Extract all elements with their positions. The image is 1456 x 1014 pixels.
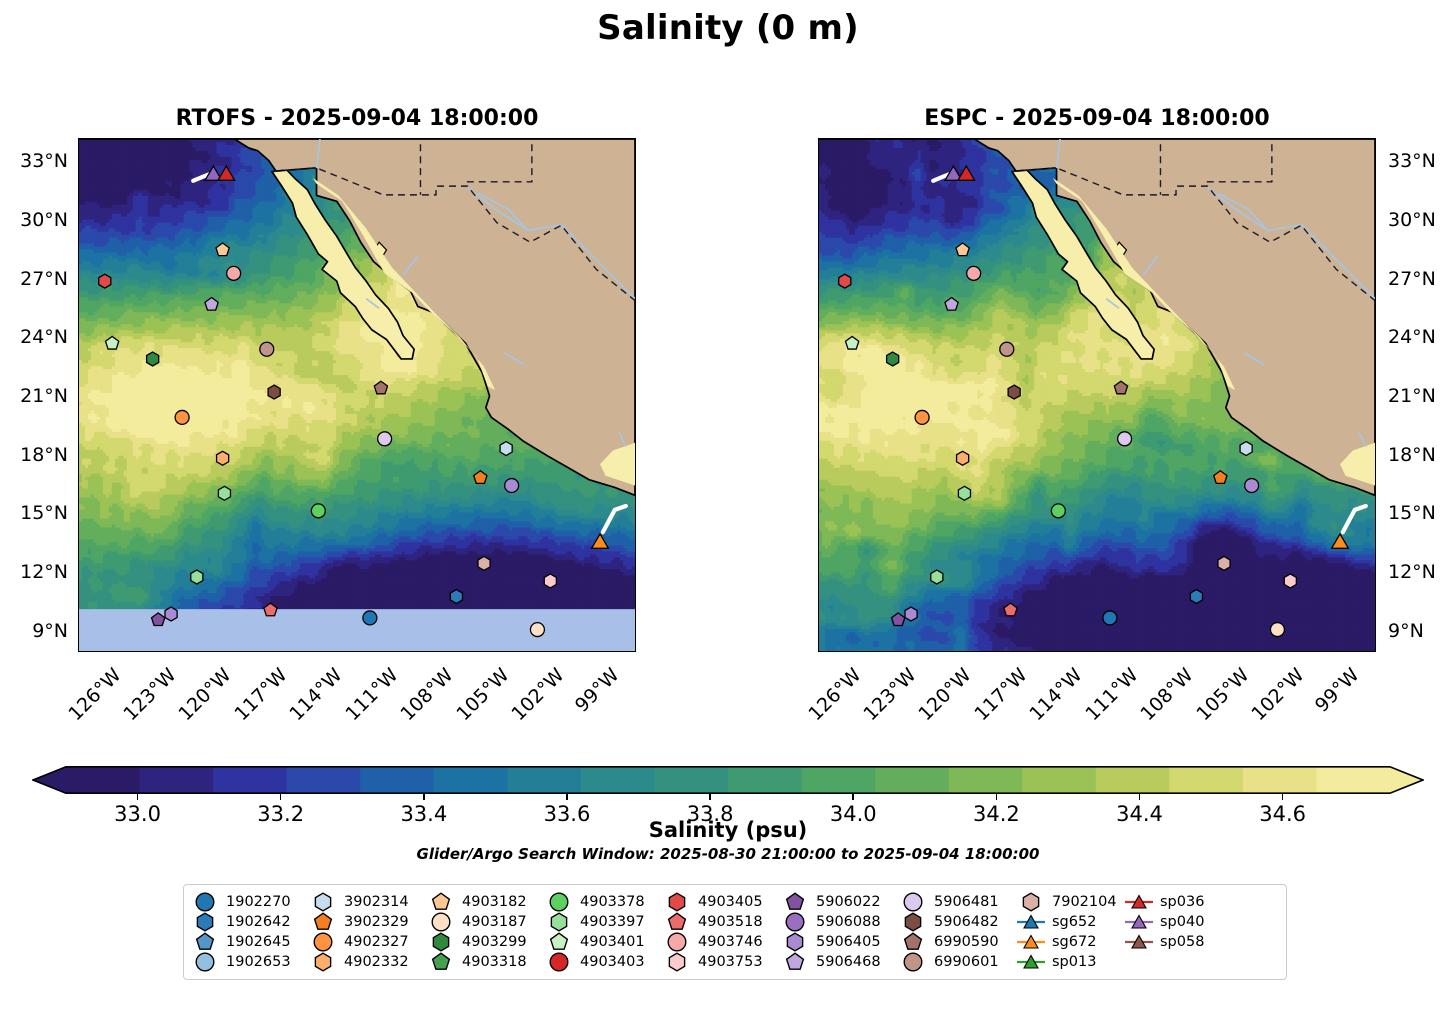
- legend-item-4903401[interactable]: 4903401: [544, 932, 662, 952]
- legend-item-sp058[interactable]: sp058: [1124, 932, 1224, 952]
- legend-item-1902642[interactable]: 1902642: [190, 912, 308, 932]
- legend-item-sg672[interactable]: sg672: [1016, 932, 1124, 952]
- pentagon-marker-icon: [190, 933, 220, 951]
- y-axis-label: 33°N: [1388, 150, 1456, 172]
- legend-item-6990601[interactable]: 6990601: [898, 952, 1016, 972]
- legend-item-5906481[interactable]: 5906481: [898, 892, 1016, 912]
- legend-item-sp040[interactable]: sp040: [1124, 912, 1224, 932]
- legend-item-label: 4903182: [456, 894, 527, 910]
- legend-item-label: 4903397: [574, 914, 645, 930]
- legend-item-4903182[interactable]: 4903182: [426, 892, 544, 912]
- y-axis-label: 18°N: [0, 444, 68, 466]
- legend-item-label: 4903187: [456, 914, 527, 930]
- legend-item-5906088[interactable]: 5906088: [780, 912, 898, 932]
- legend-item-label: 5906022: [810, 894, 881, 910]
- legend-item-4903518[interactable]: 4903518: [662, 912, 780, 932]
- legend-item-label: sg672: [1046, 934, 1096, 950]
- pentagon-marker-icon: [662, 913, 692, 931]
- legend-item-5906405[interactable]: 5906405: [780, 932, 898, 952]
- legend-item-4903299[interactable]: 4903299: [426, 932, 544, 952]
- legend-item-label: 5906088: [810, 914, 881, 930]
- colorbar-tick: [709, 794, 711, 800]
- legend-item-label: 3902329: [338, 914, 409, 930]
- legend-item-4903187[interactable]: 4903187: [426, 912, 544, 932]
- circle-marker-icon: [190, 953, 220, 971]
- y-axis-label: 24°N: [0, 326, 68, 348]
- panel-title-espc: ESPC - 2025-09-04 18:00:00: [818, 106, 1376, 131]
- legend-item-label: 4903318: [456, 954, 527, 970]
- legend-item-label: sp036: [1154, 894, 1204, 910]
- circle-marker-icon: [662, 933, 692, 951]
- y-axis-label: 9°N: [0, 620, 68, 642]
- legend-item-label: 4903746: [692, 934, 763, 950]
- colorbar-label: Salinity (psu): [0, 818, 1456, 842]
- y-axis-label: 15°N: [1388, 502, 1456, 524]
- circle-marker-icon: [544, 953, 574, 971]
- legend-item-label: sp013: [1046, 954, 1096, 970]
- legend-column: 1902270190264219026451902653: [190, 892, 308, 972]
- legend-column: 4903405490351849037464903753: [662, 892, 780, 972]
- circle-marker-icon: [308, 933, 338, 951]
- colorbar-tick: [423, 794, 425, 800]
- colorbar-tick: [280, 794, 282, 800]
- legend-item-4903378[interactable]: 4903378: [544, 892, 662, 912]
- colorbar-tick: [996, 794, 998, 800]
- triangle-line-marker-icon: [1124, 933, 1154, 951]
- legend-column: 5906481590648269905906990601: [898, 892, 1016, 972]
- legend-item-label: 1902642: [220, 914, 291, 930]
- legend-item-label: 3902314: [338, 894, 409, 910]
- hexagon-marker-icon: [898, 913, 928, 931]
- legend-item-label: 1902270: [220, 894, 291, 910]
- y-axis-label: 21°N: [1388, 385, 1456, 407]
- legend-column: 4903182490318749032994903318: [426, 892, 544, 972]
- pentagon-marker-icon: [426, 893, 456, 911]
- pentagon-marker-icon: [544, 933, 574, 951]
- y-axis-label: 12°N: [1388, 561, 1456, 583]
- legend-item-label: 6990590: [928, 934, 999, 950]
- map-frame-rtofs[interactable]: [78, 138, 636, 652]
- pentagon-marker-icon: [898, 933, 928, 951]
- legend-item-4903753[interactable]: 4903753: [662, 952, 780, 972]
- pentagon-marker-icon: [308, 913, 338, 931]
- legend-item-label: 4903401: [574, 934, 645, 950]
- hexagon-marker-icon: [1016, 893, 1046, 911]
- legend-item-4903318[interactable]: 4903318: [426, 952, 544, 972]
- y-axis-label: 30°N: [0, 209, 68, 231]
- hexagon-marker-icon: [662, 953, 692, 971]
- legend-item-4903746[interactable]: 4903746: [662, 932, 780, 952]
- circle-marker-icon: [190, 893, 220, 911]
- pentagon-marker-icon: [780, 893, 810, 911]
- pentagon-marker-icon: [780, 953, 810, 971]
- legend-column: sp036sp040sp058: [1124, 892, 1224, 952]
- figure-title: Salinity (0 m): [0, 8, 1456, 48]
- colorbar-tick: [852, 794, 854, 800]
- y-axis-label: 27°N: [1388, 268, 1456, 290]
- map-panel-rtofs: RTOFS - 2025-09-04 18:00:00 126°W123°W12…: [78, 138, 636, 652]
- triangle-line-marker-icon: [1016, 953, 1046, 971]
- triangle-line-marker-icon: [1016, 933, 1046, 951]
- hexagon-marker-icon: [544, 913, 574, 931]
- search-window-caption: Glider/Argo Search Window: 2025-08-30 21…: [0, 845, 1456, 863]
- legend-item-3902329[interactable]: 3902329: [308, 912, 426, 932]
- legend-item-1902653[interactable]: 1902653: [190, 952, 308, 972]
- y-axis-label: 15°N: [0, 502, 68, 524]
- hexagon-marker-icon: [662, 893, 692, 911]
- y-axis-label: 24°N: [1388, 326, 1456, 348]
- legend-item-4902332[interactable]: 4902332: [308, 952, 426, 972]
- legend-item-label: 4903403: [574, 954, 645, 970]
- panel-title-rtofs: RTOFS - 2025-09-04 18:00:00: [78, 106, 636, 131]
- legend-item-label: 7902104: [1046, 894, 1117, 910]
- marker-legend[interactable]: 1902270190264219026451902653390231439023…: [183, 884, 1287, 980]
- hexagon-marker-icon: [308, 953, 338, 971]
- legend-item-sp036[interactable]: sp036: [1124, 892, 1224, 912]
- legend-column: 3902314390232949023274902332: [308, 892, 426, 972]
- legend-item-label: 4903405: [692, 894, 763, 910]
- colorbar-tick: [566, 794, 568, 800]
- triangle-line-marker-icon: [1124, 913, 1154, 931]
- colorbar: 33.033.233.433.633.834.034.234.434.6: [32, 766, 1424, 794]
- legend-item-label: 4902327: [338, 934, 409, 950]
- legend-item-label: 5906405: [810, 934, 881, 950]
- legend-item-label: sp058: [1154, 934, 1204, 950]
- circle-marker-icon: [426, 913, 456, 931]
- legend-column: 5906022590608859064055906468: [780, 892, 898, 972]
- legend-item-label: 4903753: [692, 954, 763, 970]
- legend-item-5906482[interactable]: 5906482: [898, 912, 1016, 932]
- legend-item-label: 5906482: [928, 914, 999, 930]
- circle-marker-icon: [898, 893, 928, 911]
- pentagon-marker-icon: [426, 953, 456, 971]
- circle-marker-icon: [544, 893, 574, 911]
- map-frame-espc[interactable]: [818, 138, 1376, 652]
- legend-item-5906468[interactable]: 5906468: [780, 952, 898, 972]
- legend-item-sp013[interactable]: sp013: [1016, 952, 1124, 972]
- hexagon-marker-icon: [780, 933, 810, 951]
- y-axis-label: 12°N: [0, 561, 68, 583]
- legend-item-label: 5906481: [928, 894, 999, 910]
- hexagon-marker-icon: [190, 913, 220, 931]
- y-axis-label: 33°N: [0, 150, 68, 172]
- y-axis-label: 30°N: [1388, 209, 1456, 231]
- hexagon-marker-icon: [426, 933, 456, 951]
- triangle-line-marker-icon: [1124, 893, 1154, 911]
- colorbar-tick: [1139, 794, 1141, 800]
- legend-item-6990590[interactable]: 6990590: [898, 932, 1016, 952]
- legend-item-7902104[interactable]: 7902104: [1016, 892, 1124, 912]
- circle-marker-icon: [780, 913, 810, 931]
- legend-item-label: sg652: [1046, 914, 1096, 930]
- legend-item-4903397[interactable]: 4903397: [544, 912, 662, 932]
- y-axis-label: 18°N: [1388, 444, 1456, 466]
- map-panel-espc: ESPC - 2025-09-04 18:00:00 126°W123°W120…: [818, 138, 1376, 652]
- legend-item-label: 4903299: [456, 934, 527, 950]
- y-axis-label: 9°N: [1388, 620, 1456, 642]
- legend-item-label: 4903378: [574, 894, 645, 910]
- legend-item-label: 1902653: [220, 954, 291, 970]
- legend-item-label: 4902332: [338, 954, 409, 970]
- y-axis-label: 27°N: [0, 268, 68, 290]
- y-axis-label: 21°N: [0, 385, 68, 407]
- colorbar-tick: [137, 794, 139, 800]
- legend-item-label: 4903518: [692, 914, 763, 930]
- circle-marker-icon: [898, 953, 928, 971]
- hexagon-marker-icon: [308, 893, 338, 911]
- legend-item-1902645[interactable]: 1902645: [190, 932, 308, 952]
- colorbar-tick: [1282, 794, 1284, 800]
- legend-column: 4903378490339749034014903403: [544, 892, 662, 972]
- legend-item-3902314[interactable]: 3902314: [308, 892, 426, 912]
- legend-item-label: 6990601: [928, 954, 999, 970]
- legend-item-5906022[interactable]: 5906022: [780, 892, 898, 912]
- triangle-line-marker-icon: [1016, 913, 1046, 931]
- legend-item-4902327[interactable]: 4902327: [308, 932, 426, 952]
- legend-item-label: 5906468: [810, 954, 881, 970]
- legend-item-label: sp040: [1154, 914, 1204, 930]
- legend-item-1902270[interactable]: 1902270: [190, 892, 308, 912]
- legend-item-sg652[interactable]: sg652: [1016, 912, 1124, 932]
- legend-item-4903405[interactable]: 4903405: [662, 892, 780, 912]
- legend-item-label: 1902645: [220, 934, 291, 950]
- legend-column: 7902104sg652sg672sp013: [1016, 892, 1124, 972]
- legend-item-4903403[interactable]: 4903403: [544, 952, 662, 972]
